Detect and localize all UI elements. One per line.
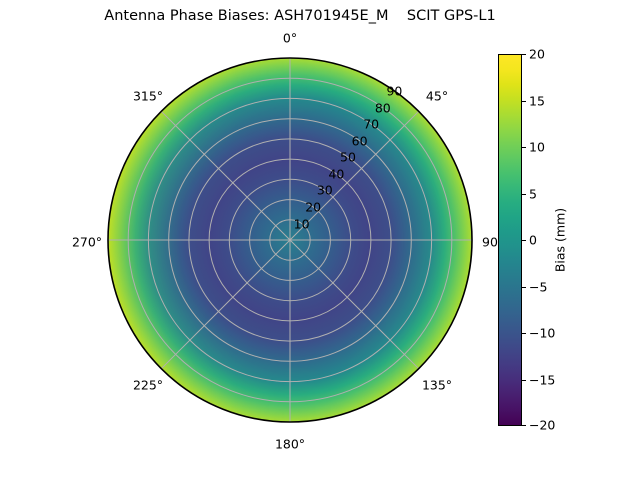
colorbar-tick-m5 [522, 287, 526, 288]
angle-label-135: 135° [422, 378, 452, 393]
colorbar-axis-label: Bias (mm) [553, 208, 568, 272]
colorbar-tick-m20 [522, 425, 526, 426]
colorbar: 20 15 10 5 0 −5 −10 −15 −20 [498, 54, 522, 426]
page-title: Antenna Phase Biases: ASH701945E_M SCIT … [0, 8, 600, 24]
colorbar-ticklabel-0: 0 [529, 233, 537, 248]
colorbar-gradient [498, 54, 522, 426]
colorbar-tick-m15 [522, 380, 526, 381]
colorbar-tick-5 [522, 194, 526, 195]
radial-tick-label-50: 50 [340, 150, 356, 165]
colorbar-ticklabel-5: 5 [529, 186, 537, 201]
angle-label-0: 0° [283, 31, 297, 46]
colorbar-ticklabel-10: 10 [529, 140, 545, 155]
colorbar-ticklabel-15: 15 [529, 93, 545, 108]
colorbar-ticklabel-m20: −20 [529, 418, 555, 433]
colorbar-ticklabel-m5: −5 [529, 279, 547, 294]
figure-canvas: Antenna Phase Biases: ASH701945E_M SCIT … [0, 0, 640, 480]
radial-tick-label-70: 70 [363, 117, 379, 132]
angle-label-315: 315° [133, 89, 163, 104]
colorbar-tick-20 [522, 54, 526, 55]
radial-tick-label-30: 30 [317, 183, 333, 198]
angle-label-270: 270° [72, 235, 102, 250]
radial-tick-label-10: 10 [294, 216, 310, 231]
angle-label-90: 90 [482, 235, 498, 250]
angle-label-180: 180° [275, 437, 305, 452]
colorbar-tick-15 [522, 101, 526, 102]
colorbar-tick-10 [522, 147, 526, 148]
polar-axes: 10 20 30 40 50 60 70 80 90 [107, 57, 473, 423]
radial-tick-label-90: 90 [386, 84, 402, 99]
radial-tick-label-80: 80 [375, 100, 391, 115]
radial-tick-label-20: 20 [305, 200, 321, 215]
colorbar-tick-m10 [522, 333, 526, 334]
angle-label-45: 45° [426, 89, 448, 104]
colorbar-ticklabel-m15: −15 [529, 372, 555, 387]
radial-tick-label-60: 60 [352, 133, 368, 148]
angle-label-225: 225° [133, 378, 163, 393]
colorbar-ticklabel-20: 20 [529, 47, 545, 62]
colorbar-tick-0 [522, 240, 526, 241]
polar-plot-svg [107, 57, 473, 423]
colorbar-ticklabel-m10: −10 [529, 326, 555, 341]
polar-grid-spokes [108, 58, 472, 422]
radial-tick-label-40: 40 [328, 166, 344, 181]
